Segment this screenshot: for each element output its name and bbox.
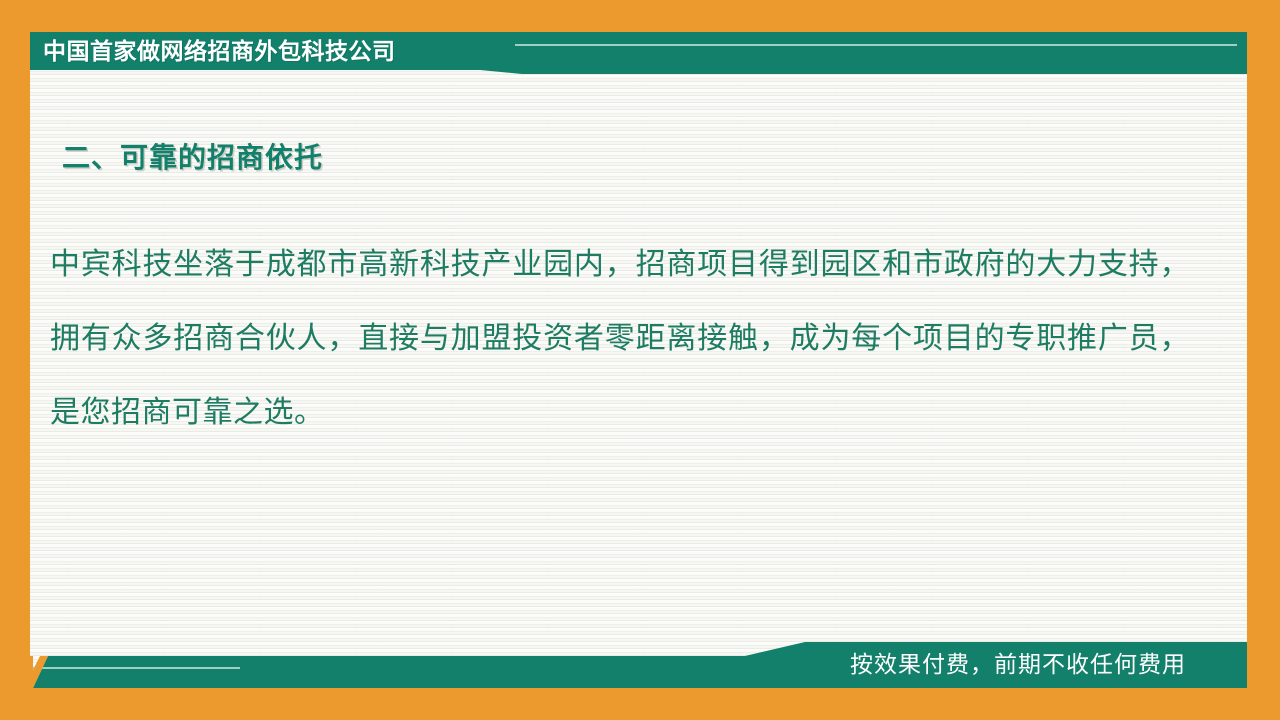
frame-border-left [0,0,30,720]
frame-border-right [1247,0,1280,720]
header-divider-line [515,44,1237,46]
section-heading: 二、可靠的招商依托 [62,136,323,176]
frame-border-bottom [0,688,1280,720]
frame-border-top [0,0,1280,32]
header-title: 中国首家做网络招商外包科技公司 [43,36,396,66]
slide-canvas: 中国首家做网络招商外包科技公司 二、可靠的招商依托 中宾科技坐落于成都市高新科技… [0,0,1280,720]
footer-tagline: 按效果付费，前期不收任何费用 [850,648,1186,680]
body-paragraph: 中宾科技坐落于成都市高新科技产业园内，招商项目得到园区和市政府的大力支持，拥有众… [50,228,1190,450]
